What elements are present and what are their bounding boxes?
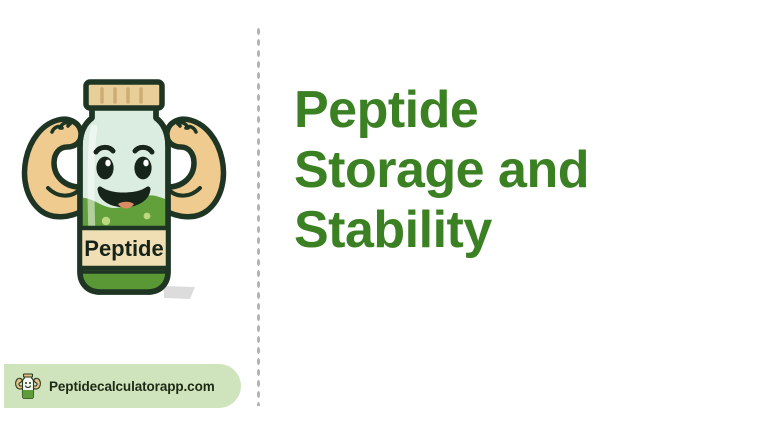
page-title: Peptide Storage and Stability (294, 80, 734, 260)
peptide-bottle-mascot-illustration: Peptide (14, 58, 234, 303)
peptide-bottle-mascot-svg: Peptide (14, 58, 234, 303)
left-flexing-arm (25, 119, 86, 217)
bottle-cap (86, 82, 162, 108)
title-line-3: Stability (294, 200, 734, 260)
title-line-2: Storage and (294, 140, 734, 200)
dotted-divider (256, 26, 261, 406)
peptide-bottle-mascot-icon (14, 371, 42, 401)
title-line-1: Peptide (294, 80, 734, 140)
slide-canvas: Peptide Peptide Storage and Stability Pe… (0, 0, 768, 432)
right-flexing-arm (162, 119, 223, 217)
site-branding-badge[interactable]: Peptidecalculatorapp.com (4, 364, 241, 408)
bottle-label-text: Peptide (84, 236, 163, 261)
left-eye-highlight (105, 160, 110, 167)
right-eye-highlight (143, 160, 148, 167)
right-eye (134, 157, 151, 180)
bottle-shadow (164, 286, 195, 299)
site-branding-label: Peptidecalculatorapp.com (49, 379, 215, 394)
left-eye (96, 157, 113, 180)
bottle-label: Peptide (80, 228, 168, 272)
illustration-panel: Peptide (0, 0, 248, 360)
